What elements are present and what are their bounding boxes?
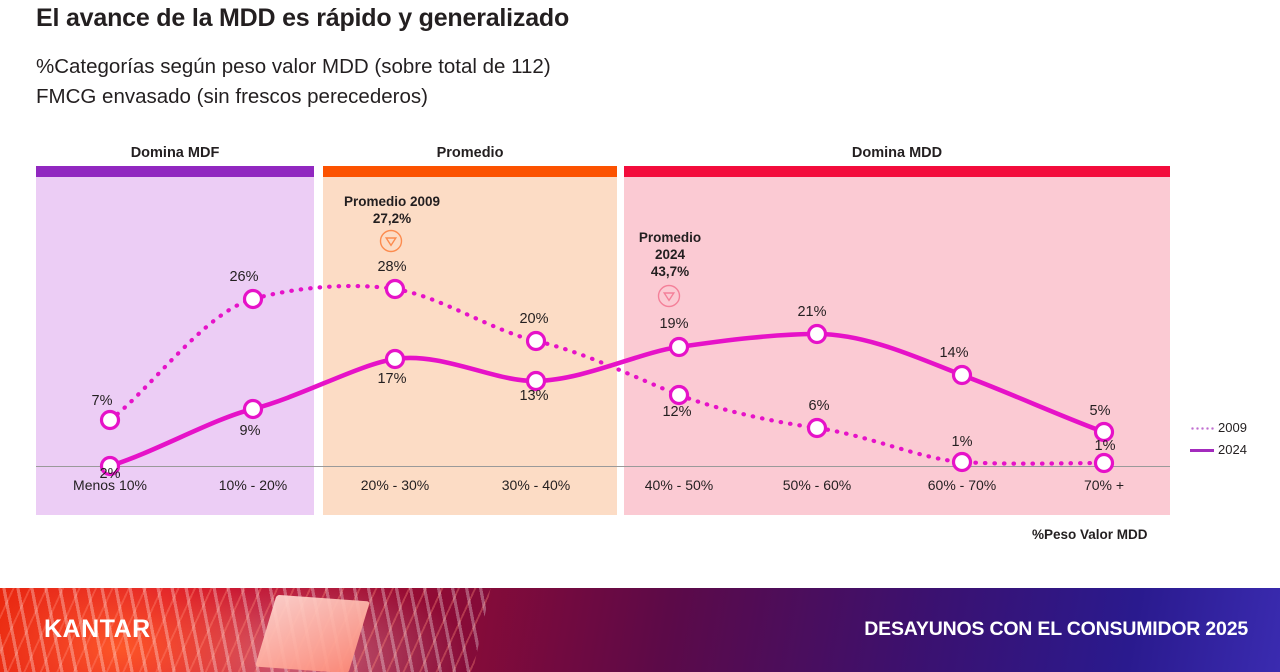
page-title: El avance de la MDD es rápido y generali… xyxy=(36,4,569,33)
footer-tagline: DESAYUNOS CON EL CONSUMIDOR 2025 xyxy=(864,618,1248,641)
footer-banner: KANTAR DESAYUNOS CON EL CONSUMIDOR 2025 xyxy=(0,588,1280,672)
x-axis-label: 60% - 70% xyxy=(914,477,1010,493)
subtitle-line-2: FMCG envasado (sin frescos perecederos) xyxy=(36,85,428,108)
page-subtitle: %Categorías según peso valor MDD (sobre … xyxy=(36,52,551,112)
kantar-logo: KANTAR xyxy=(44,615,151,644)
x-axis-label: 10% - 20% xyxy=(205,477,301,493)
legend-swatch-dotted-icon xyxy=(1190,427,1214,430)
point-label-2024: 21% xyxy=(790,304,834,320)
point-label-2009: 12% xyxy=(655,404,699,420)
point-label-2024: 5% xyxy=(1078,403,1122,419)
point-label-2009: 6% xyxy=(797,398,841,414)
triangle-down-icon-2024 xyxy=(657,284,681,308)
legend-swatch-solid-icon xyxy=(1190,449,1214,452)
point-label-2009: 1% xyxy=(1083,438,1127,454)
legend-label: 2009 xyxy=(1218,420,1247,435)
x-axis-label: 50% - 60% xyxy=(769,477,865,493)
x-axis-label: 70% + xyxy=(1056,477,1152,493)
annotation-promedio-2024: Promedio 2024 43,7% xyxy=(630,229,710,280)
point-label-2009: 7% xyxy=(80,393,124,409)
point-label-2024: 17% xyxy=(370,371,414,387)
x-axis-label: 40% - 50% xyxy=(631,477,727,493)
point-label-2024: 19% xyxy=(652,316,696,332)
triangle-down-icon-2009 xyxy=(379,229,403,253)
annotation-value: 43,7% xyxy=(651,264,689,279)
point-label-2024: 9% xyxy=(228,423,272,439)
x-axis-label: 30% - 40% xyxy=(488,477,584,493)
annotation-promedio-2009: Promedio 2009 27,2% xyxy=(336,193,448,227)
annotation-line: Promedio 2009 xyxy=(344,194,440,209)
subtitle-line-1: %Categorías según peso valor MDD (sobre … xyxy=(36,55,551,78)
x-axis-label: Menos 10% xyxy=(62,477,158,493)
annotation-line: Promedio xyxy=(639,230,701,245)
x-axis-title: %Peso Valor MDD xyxy=(1032,527,1148,542)
annotation-line: 2024 xyxy=(655,247,685,262)
point-label-2024: 14% xyxy=(932,345,976,361)
annotation-value: 27,2% xyxy=(373,211,411,226)
legend-label: 2024 xyxy=(1218,442,1247,457)
x-axis-label: 20% - 30% xyxy=(347,477,443,493)
point-label-2009: 28% xyxy=(370,259,414,275)
point-label-2009: 26% xyxy=(222,269,266,285)
point-label-2024: 13% xyxy=(512,388,556,404)
point-label-2009: 1% xyxy=(940,434,984,450)
point-label-2009: 20% xyxy=(512,311,556,327)
